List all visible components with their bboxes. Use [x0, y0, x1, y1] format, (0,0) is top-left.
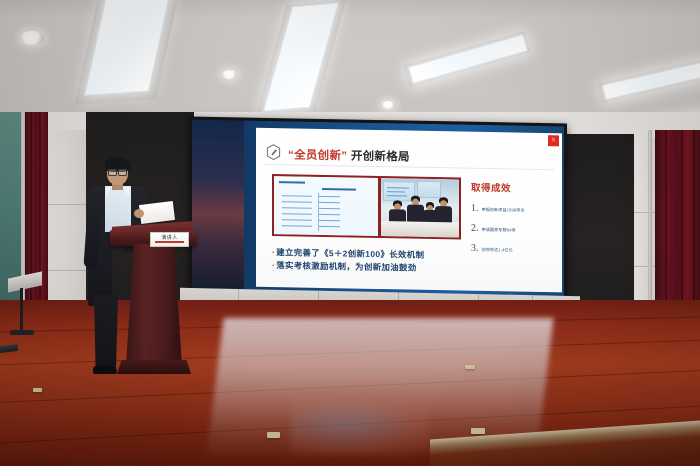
podium-base: [117, 360, 191, 374]
podium-nameplate: 演讲人: [150, 232, 189, 247]
slide-result-text: 申请国家专刱64项: [482, 227, 516, 234]
doc-row: [282, 213, 312, 215]
presenter-legs: [92, 295, 118, 373]
doc-row: [318, 214, 340, 215]
doc-row: [282, 201, 312, 203]
doc-row: [318, 220, 340, 221]
downlight-3: [382, 101, 395, 109]
photo-backdrop-panel: [417, 181, 441, 198]
podium-body: [126, 244, 182, 366]
slide-title-highlight: 全员创新: [294, 149, 341, 162]
presenter-collar-right: [124, 187, 129, 197]
wall-dark-panel-right: [560, 134, 634, 310]
slide-title-rule: [264, 164, 554, 170]
floor-color-reflection: [290, 395, 430, 455]
slide-title-quote-close: ”: [341, 150, 347, 162]
wall-seam-3: [634, 212, 656, 213]
wall-seam-4: [634, 266, 656, 267]
slide-title: “全员创新” 开创新格局: [288, 146, 410, 164]
doc-row: [282, 207, 312, 209]
podium-nameplate-text: 演讲人: [151, 234, 188, 241]
doc-header-line: [279, 181, 305, 183]
floor-marker: [465, 365, 475, 369]
slide-result-number: 2.: [471, 223, 479, 234]
side-monitor-stem: [20, 288, 23, 332]
presenter-hand: [134, 209, 144, 218]
doc-row: [282, 219, 312, 221]
presenter-collar-left: [106, 187, 111, 197]
glasses-lens-right: [118, 169, 127, 176]
team-meeting-photo: [381, 178, 459, 237]
floor-marker: [33, 388, 42, 392]
floor-marker: [267, 432, 280, 438]
slide-result-number: 3.: [471, 243, 479, 254]
photo-backdrop-line: [387, 195, 407, 196]
slide-media-document: [272, 174, 380, 238]
doc-row: [318, 196, 340, 197]
slide-bullet-2: 落实考核激励机制，为创新加油鼓劲: [272, 259, 424, 275]
photo-backdrop-line: [387, 191, 405, 192]
slide-bullet-list: 建立完善了《5＋2创新100》长效机制 落实考核激励机制，为创新加油鼓劲: [272, 246, 424, 275]
slide-result-text: 申报创新项目1596项次: [482, 207, 525, 214]
photo-backdrop-line: [387, 187, 409, 188]
wall-panel-right-1: [634, 138, 657, 318]
hexagon-pen-icon: [266, 144, 281, 160]
doc-row: [318, 208, 340, 209]
doc-row: [318, 226, 340, 227]
presenter-shoe: [93, 366, 117, 374]
slide-result-text: 创效效达1.4亿元: [482, 247, 513, 254]
conference-hall-photo: 5 “全员创新” 开创新格局: [0, 0, 700, 466]
wall-green-panel: [0, 112, 22, 326]
projection-screen: 5 “全员创新” 开创新格局: [189, 117, 567, 302]
slide-results-column: 取得成效 1. 申报创新项目1596项次 2. 申请国家专刱64项 3. 创效效…: [471, 180, 557, 256]
side-monitor-base: [10, 330, 34, 335]
slide-results-title: 取得成效: [471, 180, 557, 196]
screen-surface: 5 “全员创新” 开创新格局: [192, 120, 564, 298]
doc-row: [318, 202, 340, 203]
doc-col-title: [322, 188, 356, 191]
doc-row: [282, 195, 312, 197]
slide-result-item: 3. 创效效达1.4亿元: [471, 243, 557, 256]
slide-page-badge: 5: [548, 135, 559, 146]
doc-rule-vertical: [318, 193, 319, 231]
slide-media-photo: [379, 176, 461, 240]
glasses-icon: [108, 169, 127, 174]
slide-result-item: 2. 申请国家专刱64项: [471, 223, 557, 236]
slide-result-item: 1. 申报创新项目1596项次: [471, 203, 557, 216]
slide-result-number: 1.: [471, 203, 479, 214]
downlight-2: [222, 70, 237, 79]
slide-title-rest: 开创新格局: [351, 151, 410, 164]
document-screenshot: [274, 176, 378, 236]
doc-row: [282, 225, 312, 227]
downlight-1: [20, 31, 44, 45]
photo-meeting-table: [381, 221, 459, 237]
presentation-slide: 5 “全员创新” 开创新格局: [256, 128, 562, 293]
floor-marker: [471, 428, 485, 434]
podium-nameplate-rule: [155, 241, 184, 243]
